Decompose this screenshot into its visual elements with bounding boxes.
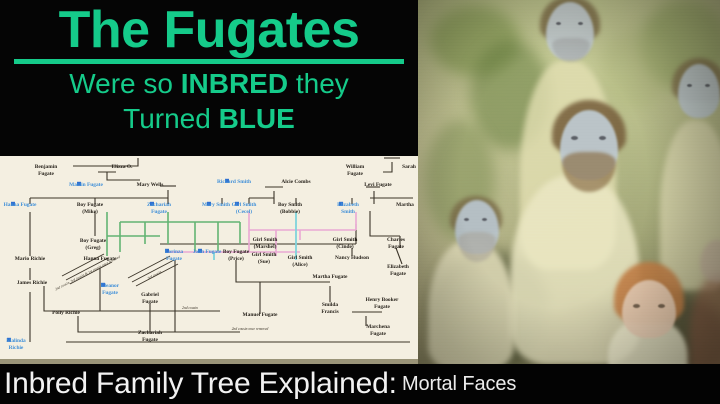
tree-person-name: Boy Fugate: [77, 202, 104, 208]
tree-person-name: Nancy Hudson: [335, 255, 369, 261]
tree-person-name: Levi Fugate: [364, 182, 392, 188]
tree-person-name: Boy Fugate: [223, 249, 250, 255]
tree-person-node: Henry BookerFugate: [366, 297, 399, 310]
tree-person-name: Sarah: [402, 164, 416, 170]
tree-person-name: William: [346, 164, 365, 170]
tree-person-name: Zachariah: [138, 330, 162, 336]
tree-person-node: Sarah: [402, 164, 416, 170]
tree-person-name: Richie: [9, 345, 24, 351]
subline1-prefix: Were so: [69, 68, 181, 99]
tree-person-name: Fugate: [102, 290, 118, 296]
tree-person-node: Girl Smith(Cinde): [333, 237, 358, 250]
title-subline-1: Were so INBRED they: [0, 66, 418, 100]
tree-person-node: LorinzaFugate: [165, 249, 184, 262]
tree-person-name: Boy Fugate: [80, 238, 107, 244]
tree-person-name: Smilda: [322, 302, 338, 308]
tree-person-node: Alcie Combs: [281, 179, 310, 185]
tree-person-name: Alcie Combs: [281, 179, 310, 185]
tree-person-name: Fugate: [38, 171, 54, 177]
tree-person-name: James Richie: [17, 280, 48, 286]
tree-person-node: GabrielFugate: [141, 292, 159, 305]
tree-person-name: Elizza O.: [112, 164, 134, 170]
title-underline-rule: [14, 59, 404, 64]
subline1-suffix: they: [288, 68, 349, 99]
tree-person-name: Elizabeth: [387, 264, 409, 270]
tree-person-name: (Cecel): [236, 208, 252, 215]
tree-person-name: Fugate: [347, 171, 363, 177]
tree-person-name: Boy Smith: [278, 202, 302, 208]
subline2-emphasis: BLUE: [219, 103, 295, 134]
tree-person-name: (Alice): [292, 261, 307, 268]
tree-person-name: Marchena: [366, 324, 390, 330]
tree-person-node: Martha: [396, 202, 414, 208]
tree-person-node: MalindaRichie: [6, 338, 26, 351]
tree-person-name: Fugate: [390, 271, 406, 277]
tree-person-node: ElizabethFugate: [387, 264, 409, 277]
tree-person-node: Boy Smith(Bobbie): [278, 202, 302, 215]
tree-person-name: Mary Smith: [202, 202, 230, 208]
tree-person-node: MarchenaFugate: [366, 324, 390, 337]
tree-person-node: EleanorFugate: [101, 283, 120, 296]
tree-person-name: Henry Booker: [366, 297, 399, 303]
tree-person-name: Francis: [321, 309, 338, 315]
tree-person-name: Martin Fugate: [69, 182, 103, 188]
youtube-thumbnail: The Fugates Were so INBRED they Turned B…: [0, 0, 720, 404]
tree-person-name: Fugate: [370, 331, 386, 337]
tree-person-name: Manuel Fugate: [243, 312, 278, 318]
caption-title: Inbred Family Tree Explained: [0, 367, 389, 401]
tree-person-node: Mary Wells: [137, 182, 164, 188]
bottom-caption-bar: Inbred Family Tree Explained:Mortal Face…: [0, 364, 720, 404]
tree-person-name: Richard Smith: [217, 179, 251, 185]
tree-person-name: Gabriel: [141, 292, 159, 298]
tree-person-node: John Fugate: [193, 249, 222, 255]
tree-person-name: Charles: [387, 237, 405, 243]
photo-face: [678, 64, 720, 118]
tree-relation-note: 3rd cousin: [147, 270, 162, 281]
title-banner: The Fugates Were so INBRED they Turned B…: [0, 0, 418, 156]
tree-person-name: (Mike): [82, 208, 98, 215]
tree-person-node: Levi Fugate: [364, 182, 392, 188]
tree-person-name: John Fugate: [193, 249, 222, 255]
tree-person-node: BenjaminFugate: [35, 164, 57, 177]
tree-person-name: Hanna Fugate: [4, 202, 37, 208]
tree-person-name: Martha: [396, 202, 414, 208]
tree-person-name: Girl Smith: [253, 237, 278, 243]
tree-person-name: Mary Wells: [137, 182, 164, 188]
tree-person-name: (Sue): [258, 258, 270, 265]
tree-person-name: (Bobbie): [280, 208, 300, 215]
tree-person-node: James Richie: [17, 280, 48, 286]
tree-person-name: Fugate: [166, 256, 182, 262]
tree-person-name: Girl Smith: [232, 202, 257, 208]
tree-person-name: Fugate: [151, 209, 167, 215]
tree-relation-note: 2nd cousin once removed: [232, 327, 269, 331]
family-tree-svg: BenjaminFugateElizza O.Martin FugateMary…: [0, 156, 418, 364]
tree-person-name: (Greg): [85, 244, 100, 251]
tree-person-name: Fugate: [142, 299, 158, 305]
tree-person-name: (Marshel): [254, 243, 277, 250]
tree-person-node: Boy Fugate(Price): [223, 249, 250, 262]
tree-person-name: Malinda: [6, 338, 26, 344]
tree-person-node: Martin Fugate: [69, 182, 103, 188]
subline2-prefix: Turned: [123, 103, 218, 134]
page-title: The Fugates: [0, 0, 418, 58]
tree-person-name: Fugate: [388, 244, 404, 250]
caption-separator: :: [389, 367, 397, 401]
title-subline-2: Turned BLUE: [0, 100, 418, 135]
tree-person-node: SmildaFrancis: [321, 302, 338, 315]
tree-person-name: Girl Smith: [333, 237, 358, 243]
tree-relation-note: 2nd cousin: [182, 306, 198, 310]
tree-person-node: Manuel Fugate: [243, 312, 278, 318]
tree-person-node: Girl Smith(Marshel): [253, 237, 278, 250]
tree-person-node: WilliamFugate: [346, 164, 365, 177]
tree-person-node: Nancy Hudson: [335, 255, 369, 261]
subline1-emphasis: INBRED: [181, 68, 288, 99]
tree-person-name: Fugate: [374, 304, 390, 310]
tree-person-name: Elizabeth: [337, 202, 359, 208]
tree-person-name: Fugate: [142, 337, 158, 343]
family-tree-chart: BenjaminFugateElizza O.Martin FugateMary…: [0, 156, 418, 364]
tree-person-name: Martha Fugate: [313, 274, 348, 280]
photo-face: [622, 280, 676, 338]
tree-person-name: Benjamin: [35, 164, 57, 170]
tree-person-node: Mary Smith: [202, 202, 230, 208]
tree-person-node: Elizza O.: [112, 164, 134, 170]
tree-person-labels: BenjaminFugateElizza O.Martin FugateMary…: [4, 164, 416, 351]
tree-person-name: Lorinza: [165, 249, 184, 255]
tree-person-name: Polly Richie: [52, 310, 80, 316]
photo-foliage-blotch: [600, 30, 670, 110]
tree-person-name: (Price): [228, 255, 244, 262]
tree-person-node: Polly Richie: [52, 310, 80, 316]
tree-person-node: Boy Fugate(Greg): [80, 238, 107, 251]
tree-person-node: Richard Smith: [217, 179, 251, 185]
tree-person-node: Girl Smith(Alice): [288, 255, 313, 268]
tree-person-name: Eleanor: [101, 283, 120, 289]
tree-person-name: (Cinde): [336, 243, 354, 250]
tree-person-name: Zachariah: [147, 202, 171, 208]
tree-person-node: Boy Fugate(Mike): [77, 202, 104, 215]
tree-person-node: Mario Richie: [15, 256, 46, 262]
tree-person-node: Hanna Fugate: [4, 202, 37, 208]
tree-person-name: Girl Smith: [288, 255, 313, 261]
tree-person-name: Girl Smith: [252, 252, 277, 258]
tree-person-node: Girl Smith(Sue): [252, 252, 277, 265]
tree-person-name: Mario Richie: [15, 256, 46, 262]
tree-person-node: ZachariahFugate: [138, 330, 162, 343]
tree-person-name: Smith: [341, 209, 355, 215]
tree-person-node: Martha Fugate: [313, 274, 348, 280]
tree-person-node: CharlesFugate: [387, 237, 405, 250]
caption-channel-name: Mortal Faces: [397, 373, 516, 396]
tree-person-node: Girl Smith(Cecel): [232, 202, 257, 215]
